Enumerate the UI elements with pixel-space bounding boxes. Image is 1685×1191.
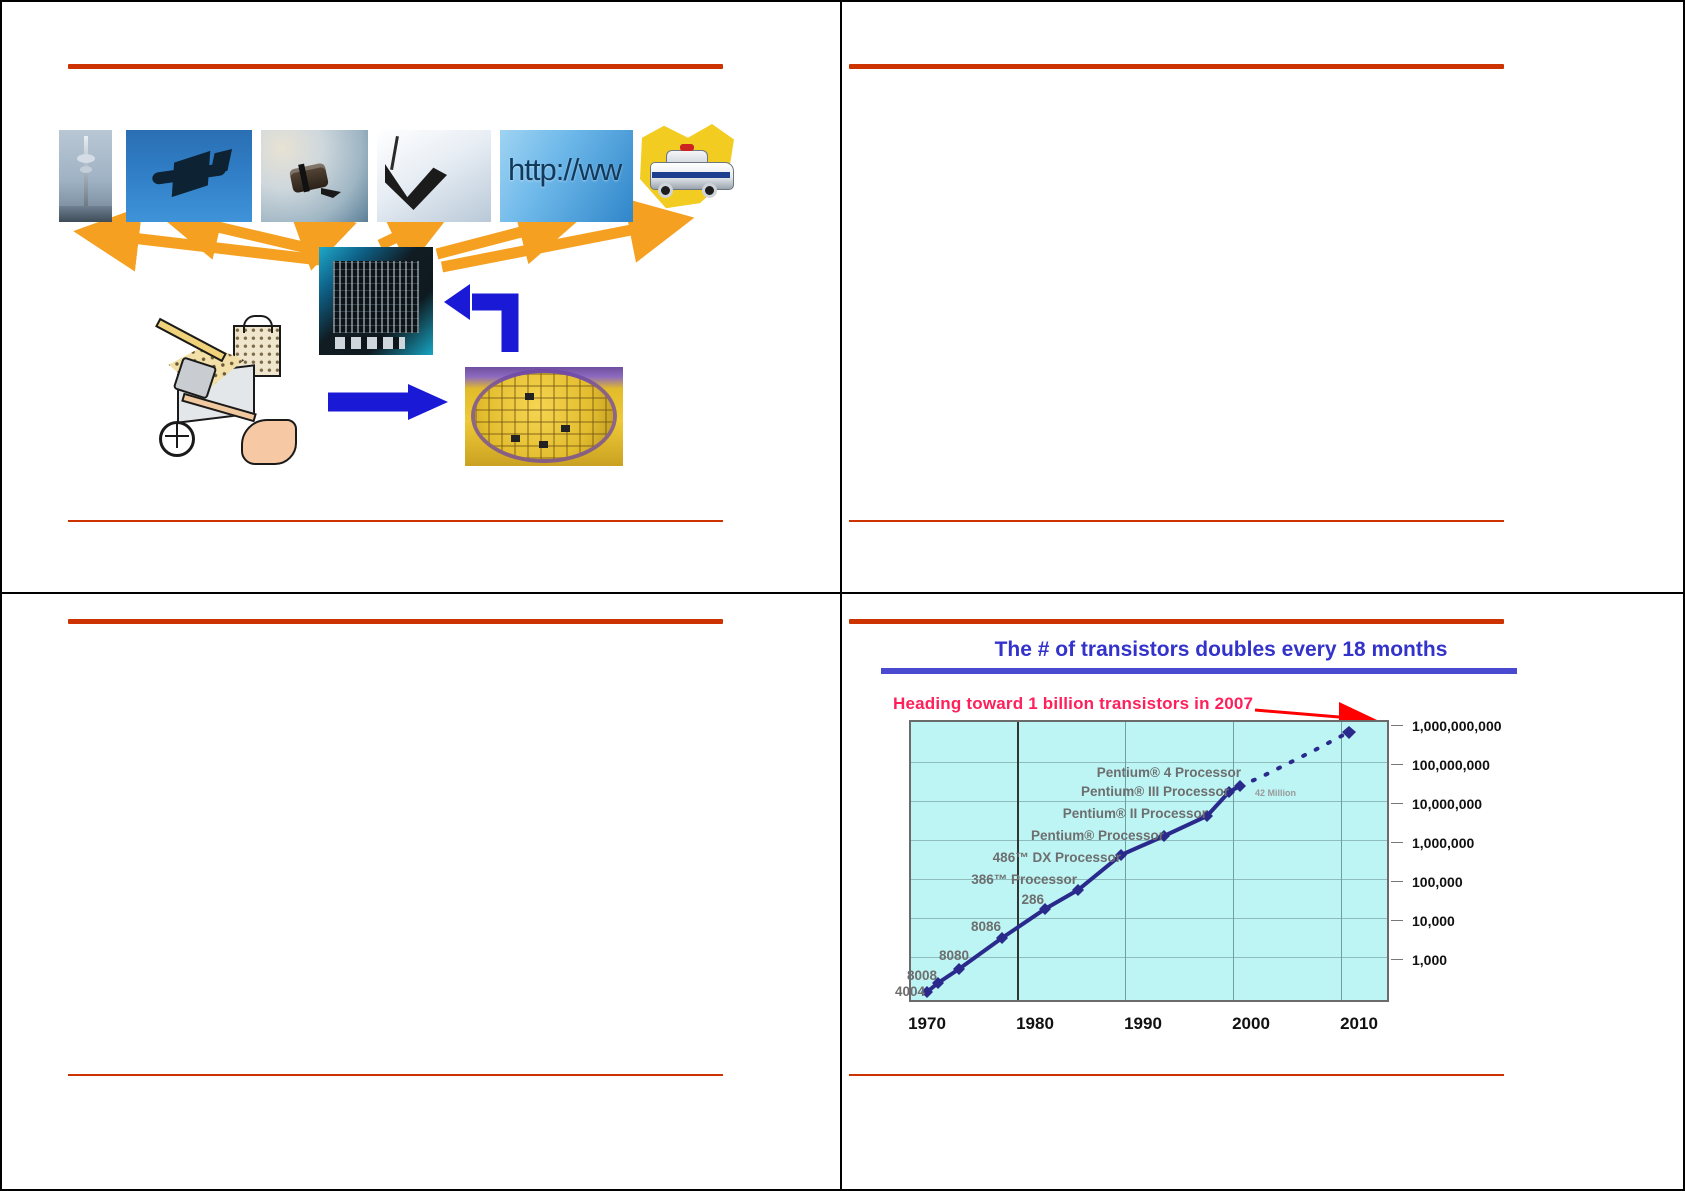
point-label-486-dx: 486™ DX Processor	[993, 850, 1121, 865]
chart-y-axis-labels: 1,000,000,000 100,000,000 10,000,000 1,0…	[1404, 720, 1544, 1002]
broadcast-tower-photo: broadcast tower	[59, 130, 112, 222]
sand-wheelbarrow-clipart	[147, 317, 302, 467]
footer-rule	[849, 1074, 1504, 1076]
y-tick-label: 100,000	[1412, 874, 1463, 890]
point-label-8086: 8086	[971, 919, 1001, 934]
police-car-clipart: police car badge	[636, 124, 736, 222]
point-label-pentium: Pentium® Processor	[1031, 828, 1164, 843]
panel-divider-vertical	[840, 0, 842, 1191]
point-label-8080: 8080	[939, 948, 969, 963]
footer-rule	[849, 520, 1504, 522]
mobile-phone-photo: mobile phone in hand	[377, 130, 491, 222]
x-tick-label: 2000	[1232, 1014, 1270, 1034]
point-label-4004: 4004	[895, 984, 925, 999]
y-tick-label: 10,000,000	[1412, 796, 1482, 812]
slide-bottom-right[interactable]: The # of transistors doubles every 18 mo…	[841, 594, 1685, 1191]
silicon-wafer-photo	[465, 367, 623, 466]
point-label-pentium-iii: Pentium® III Processor	[1081, 784, 1229, 799]
series-projection-to-1-billion	[1240, 732, 1349, 786]
x-tick-label: 1980	[1016, 1014, 1054, 1034]
point-label-286: 286	[1021, 892, 1044, 907]
y-tick-label: 100,000,000	[1412, 757, 1490, 773]
chart-series	[909, 720, 1389, 1002]
title-rule	[849, 64, 1504, 69]
title-rule	[849, 619, 1504, 624]
sand-to-wafer-arrowhead	[408, 384, 448, 420]
y-tick-label: 1,000	[1412, 952, 1447, 968]
panel-divider-horizontal	[0, 592, 1685, 594]
satellite-photo: satellite	[261, 130, 368, 222]
point-label-8008: 8008	[907, 968, 937, 983]
x-tick-label: 1990	[1124, 1014, 1162, 1034]
handout-sheet: broadcast tower airplane satellite mobil…	[0, 0, 1685, 1191]
point-label-386: 386™ Processor	[971, 872, 1077, 887]
y-tick-label: 1,000,000,000	[1412, 718, 1502, 734]
footer-rule	[68, 1074, 723, 1076]
slide-top-left[interactable]: broadcast tower airplane satellite mobil…	[0, 0, 841, 594]
inline-annotation-42-million: 42 Million	[1255, 788, 1296, 798]
moores-law-chart: The # of transistors doubles every 18 mo…	[859, 632, 1519, 1052]
wafer-to-chip-arrow	[472, 302, 510, 352]
slide-bottom-left[interactable]	[0, 594, 841, 1191]
circuit-board-photo	[319, 247, 433, 355]
y-tick-label: 1,000,000	[1412, 835, 1474, 851]
airplane-photo: airplane	[126, 130, 252, 222]
point-label-pentium-ii: Pentium® II Processor	[1063, 806, 1207, 821]
title-rule	[68, 619, 723, 624]
point-label-pentium-4: Pentium® 4 Processor	[1097, 765, 1241, 780]
applications-diagram: broadcast tower airplane satellite mobil…	[2, 2, 843, 596]
x-tick-label: 1970	[908, 1014, 946, 1034]
slide-top-right[interactable]	[841, 0, 1685, 594]
y-tick-label: 10,000	[1412, 913, 1455, 929]
wafer-to-chip-arrowhead	[444, 284, 470, 320]
chart-x-axis-labels: 1970 1980 1990 2000 2010	[909, 1014, 1389, 1042]
x-tick-label: 2010	[1340, 1014, 1378, 1034]
http-url-text: http://ww	[508, 152, 621, 188]
http-url-photo: http://ww	[500, 130, 633, 222]
